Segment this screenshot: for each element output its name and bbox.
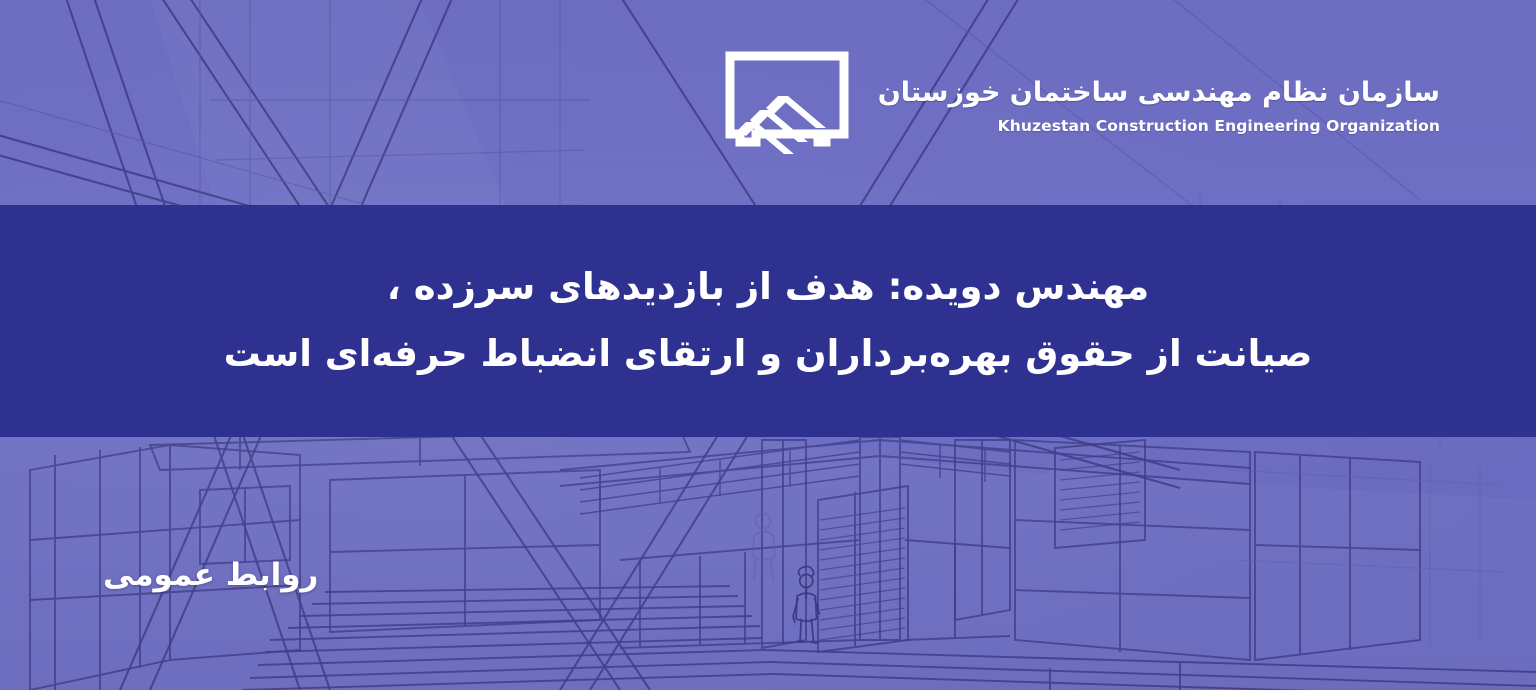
khuzestan-ceo-logo-mark: [722, 50, 852, 162]
organization-name-fa: سازمان نظام مهندسی ساختمان خوزستان: [878, 76, 1440, 110]
brand-lockup: سازمان نظام مهندسی ساختمان خوزستان Khuze…: [722, 50, 1440, 162]
banner-root: سازمان نظام مهندسی ساختمان خوزستان Khuze…: [0, 0, 1536, 690]
organization-name-en: Khuzestan Construction Engineering Organ…: [878, 117, 1440, 136]
brand-text-block: سازمان نظام مهندسی ساختمان خوزستان Khuze…: [878, 76, 1440, 136]
headline-band: مهندس دویده: هدف از بازدیدهای سرزده ، صی…: [0, 205, 1536, 437]
headline-line-1: مهندس دویده: هدف از بازدیدهای سرزده ،: [387, 261, 1149, 314]
headline-line-2: صیانت از حقوق بهره‌برداران و ارتقای انضب…: [224, 328, 1313, 381]
banner-header: سازمان نظام مهندسی ساختمان خوزستان Khuze…: [0, 0, 1536, 205]
